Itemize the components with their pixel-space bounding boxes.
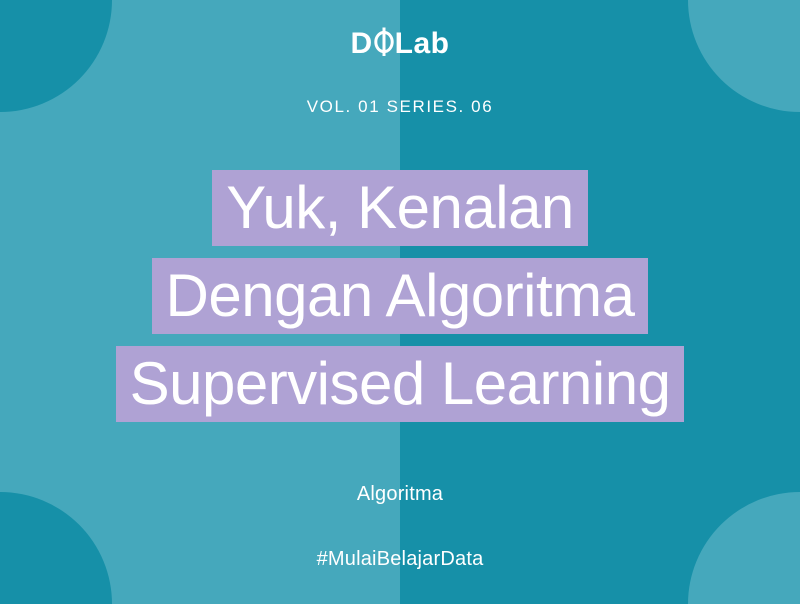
- poster-content: D Lab VOL. 01 SERIES. 06 Yuk, Kenalan De…: [0, 0, 800, 604]
- headline-line-1: Yuk, Kenalan: [212, 170, 588, 246]
- headline-block: Yuk, Kenalan Dengan Algoritma Supervised…: [0, 170, 800, 422]
- hashtag-label: #MulaiBelajarData: [0, 548, 800, 571]
- brand-logo-text-after: Lab: [395, 29, 450, 59]
- phi-symbol-icon: [373, 26, 395, 62]
- headline-line-2: Dengan Algoritma: [152, 258, 649, 334]
- brand-logo-text-before: D: [350, 29, 372, 59]
- category-label: Algoritma: [0, 483, 800, 506]
- brand-logo: D Lab: [0, 26, 800, 62]
- volume-series-label: VOL. 01 SERIES. 06: [0, 97, 800, 117]
- headline-line-3: Supervised Learning: [116, 346, 685, 422]
- poster-canvas: D Lab VOL. 01 SERIES. 06 Yuk, Kenalan De…: [0, 0, 800, 604]
